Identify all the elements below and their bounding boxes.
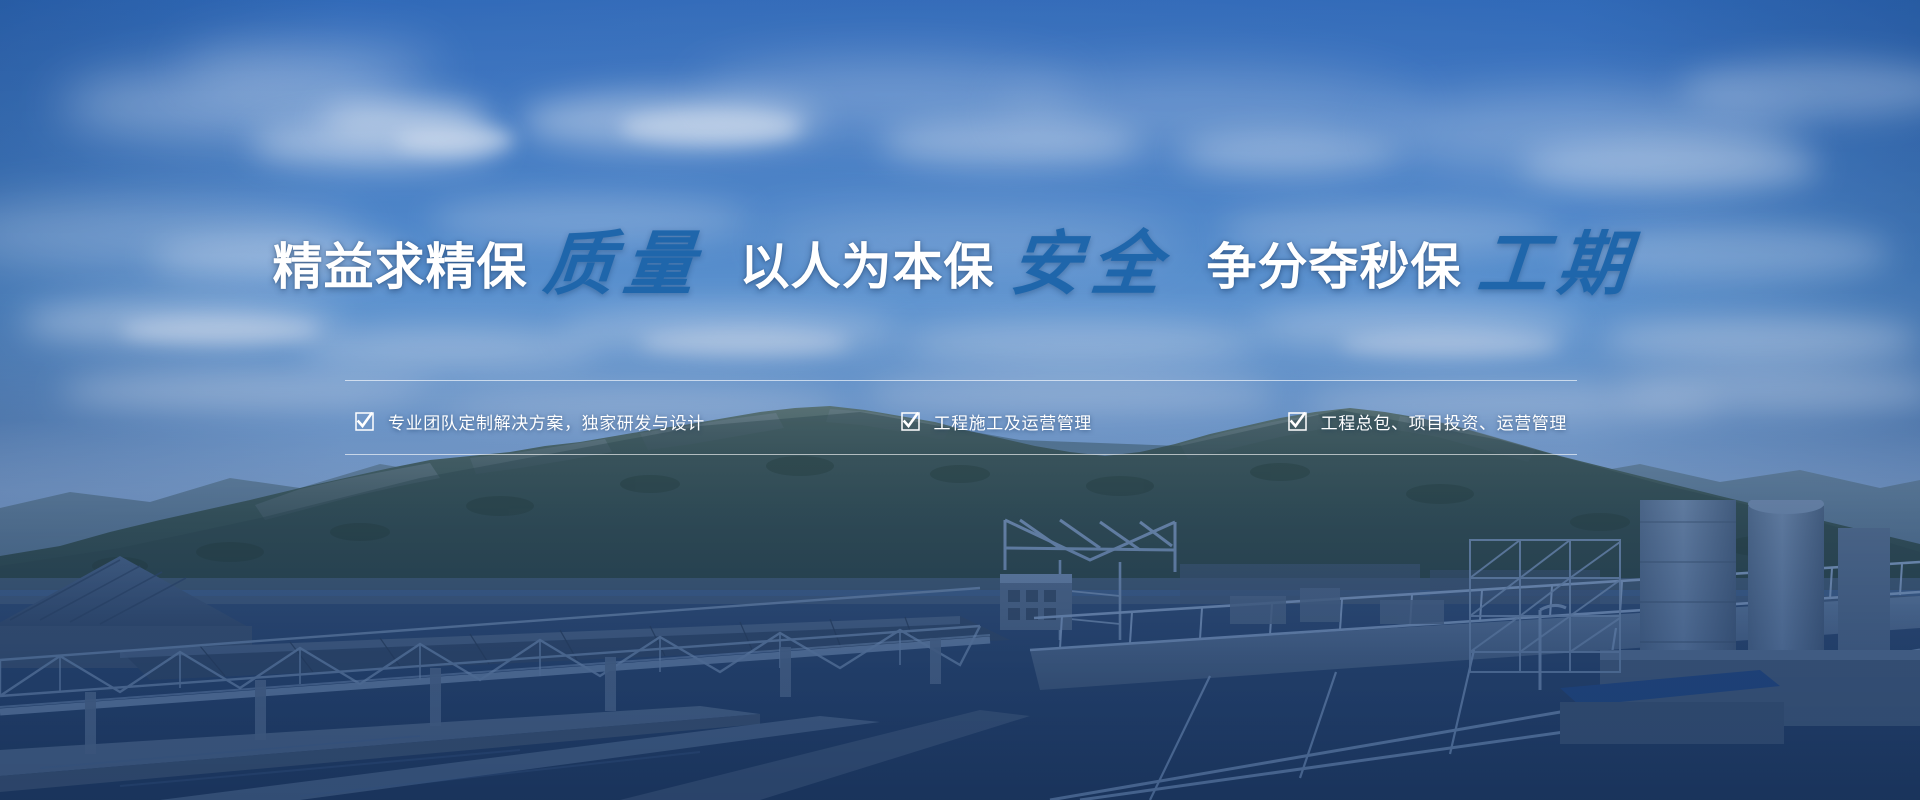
feature-item-3[interactable]: 工程总包、项目投资、运营管理 [1288,409,1567,434]
feature-item-1[interactable]: 专业团队定制解决方案，独家研发与设计 [355,409,705,434]
feature-list: 专业团队定制解决方案，独家研发与设计 工程施工及运营管理 [345,395,1577,447]
headline-segment-1: 精益求精保 [273,242,528,292]
checked-box-icon [1288,412,1307,431]
hero-banner: 精益求精保质量以人为本保安全争分夺秒保工期 专业团队定制解决方案，独家研发与设计 [0,0,1920,800]
feature-item-2-label: 工程施工及运营管理 [934,409,1092,434]
headline-segment-3: 以人为本保 [740,242,995,292]
banner-content: 精益求精保质量以人为本保安全争分夺秒保工期 专业团队定制解决方案，独家研发与设计 [0,0,1920,800]
feature-item-3-label: 工程总包、项目投资、运营管理 [1321,409,1567,434]
headline-segment-4-calligraphy: 安全 [1007,229,1173,299]
headline-segment-5: 争分夺秒保 [1207,242,1462,292]
headline-segment-6-calligraphy: 工期 [1474,229,1640,299]
checked-box-icon [355,412,374,431]
divider-bottom [345,454,1577,455]
feature-item-2[interactable]: 工程施工及运营管理 [901,409,1092,434]
headline: 精益求精保质量以人为本保安全争分夺秒保工期 [0,232,1920,302]
checked-box-icon [901,412,920,431]
headline-segment-2-calligraphy: 质量 [540,229,706,299]
feature-item-1-label: 专业团队定制解决方案，独家研发与设计 [388,409,705,434]
divider-top [345,380,1577,381]
